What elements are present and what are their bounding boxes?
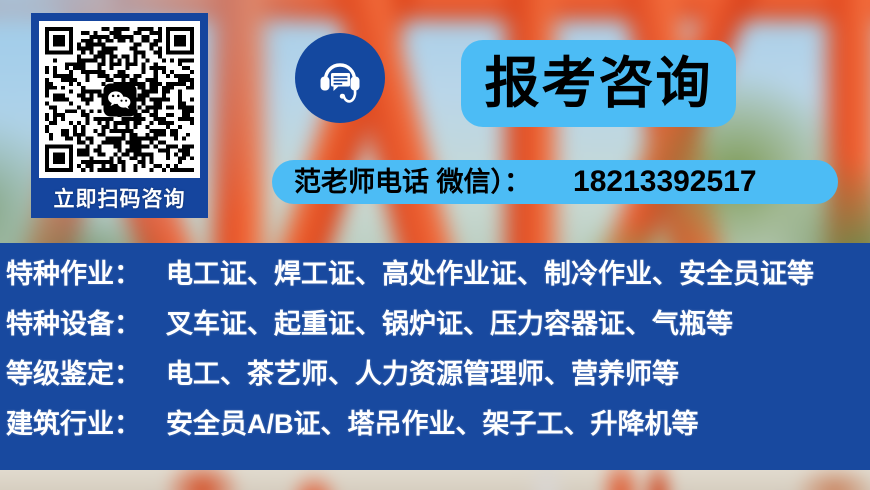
qr-code-label: 立即扫码咨询 xyxy=(54,189,186,210)
wechat-logo-icon xyxy=(103,83,136,116)
promo-poster: 立即扫码咨询 报考咨询 范老师电话 微信）： 18213392517 xyxy=(0,0,870,490)
category-items: 电工证、焊工证、高处作业证、制冷作业、安全员证等 xyxy=(166,261,814,288)
category-label: 等级鉴定： xyxy=(6,361,166,388)
title-pill: 报考咨询 xyxy=(461,40,736,127)
category-label: 建筑行业： xyxy=(6,411,166,438)
contact-phone-number[interactable]: 18213392517 xyxy=(573,167,757,197)
headset-support-icon xyxy=(312,50,368,106)
table-row: 等级鉴定： 电工、茶艺师、人力资源管理师、营养师等 xyxy=(0,361,870,411)
wechat-qr-code-icon[interactable] xyxy=(45,27,194,172)
category-label: 特种设备： xyxy=(6,311,166,338)
contact-phone-pill[interactable]: 范老师电话 微信）： 18213392517 xyxy=(272,160,838,204)
certificate-categories-panel: 特种作业： 电工证、焊工证、高处作业证、制冷作业、安全员证等 特种设备： 叉车证… xyxy=(0,243,870,470)
category-items: 安全员A/B证、塔吊作业、架子工、升降机等 xyxy=(166,411,699,438)
category-items: 叉车证、起重证、锅炉证、压力容器证、气瓶等 xyxy=(166,311,733,338)
page-title: 报考咨询 xyxy=(484,56,712,111)
table-row: 建筑行业： 安全员A/B证、塔吊作业、架子工、升降机等 xyxy=(0,411,870,461)
category-items: 电工、茶艺师、人力资源管理师、营养师等 xyxy=(166,361,679,388)
qr-code-card[interactable]: 立即扫码咨询 xyxy=(31,13,208,218)
table-row: 特种设备： 叉车证、起重证、锅炉证、压力容器证、气瓶等 xyxy=(0,311,870,361)
category-label: 特种作业： xyxy=(6,261,166,288)
table-row: 特种作业： 电工证、焊工证、高处作业证、制冷作业、安全员证等 xyxy=(0,261,870,311)
qr-code-box[interactable] xyxy=(39,21,200,178)
contact-label: 范老师电话 微信）： xyxy=(294,169,531,196)
headset-support-badge[interactable] xyxy=(295,33,385,123)
